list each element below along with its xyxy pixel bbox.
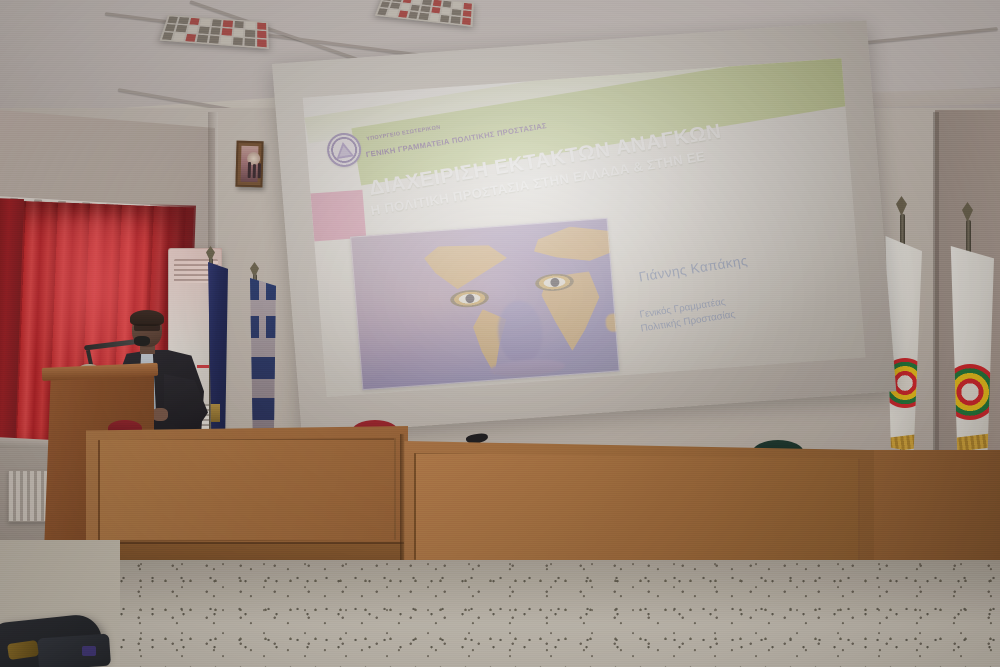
- floor-shadow: [0, 560, 1000, 667]
- bag-detail: [82, 646, 96, 656]
- greek-flag-shading: [250, 278, 276, 436]
- icon-figure: [258, 163, 261, 178]
- icon-figure: [253, 164, 256, 178]
- slide-speaker-name: Γιάννης Καπάκης: [638, 253, 749, 285]
- slide-image-world-face: [350, 218, 620, 390]
- conference-hall-photo: ΥΠΟΥΡΓΕΙΟ ΕΣΩΤΕΡΙΚΩΝ ΓΕΝΙΚΗ ΓΡΑΜΜΑΤΕΙΑ Π…: [0, 0, 1000, 667]
- right-wall-edge: [933, 112, 939, 452]
- icon-artwork: [241, 146, 259, 182]
- microphone-capsule: [134, 336, 150, 346]
- continent-australia: [605, 313, 620, 332]
- slide-pink-accent-block: [311, 190, 367, 242]
- presenter-hand: [152, 408, 168, 421]
- icon-figure: [248, 162, 251, 178]
- bench-left: [86, 426, 408, 576]
- equipment-bag-secondary: [37, 634, 111, 667]
- bench-panel: [98, 438, 396, 542]
- projection-screen: ΥΠΟΥΡΓΕΙΟ ΕΣΩΤΕΡΙΚΩΝ ΓΕΝΙΚΗ ΓΡΑΜΜΑΤΕΙΑ Π…: [272, 20, 896, 434]
- presenter-glasses: [134, 324, 160, 331]
- bench-panel: [414, 452, 860, 562]
- eu-flag: [208, 262, 228, 434]
- framed-icon: [235, 141, 263, 188]
- projected-slide: ΥΠΟΥΡΓΕΙΟ ΕΣΩΤΕΡΙΚΩΝ ΓΕΝΙΚΗ ΓΡΑΜΜΑΤΕΙΑ Π…: [303, 58, 866, 397]
